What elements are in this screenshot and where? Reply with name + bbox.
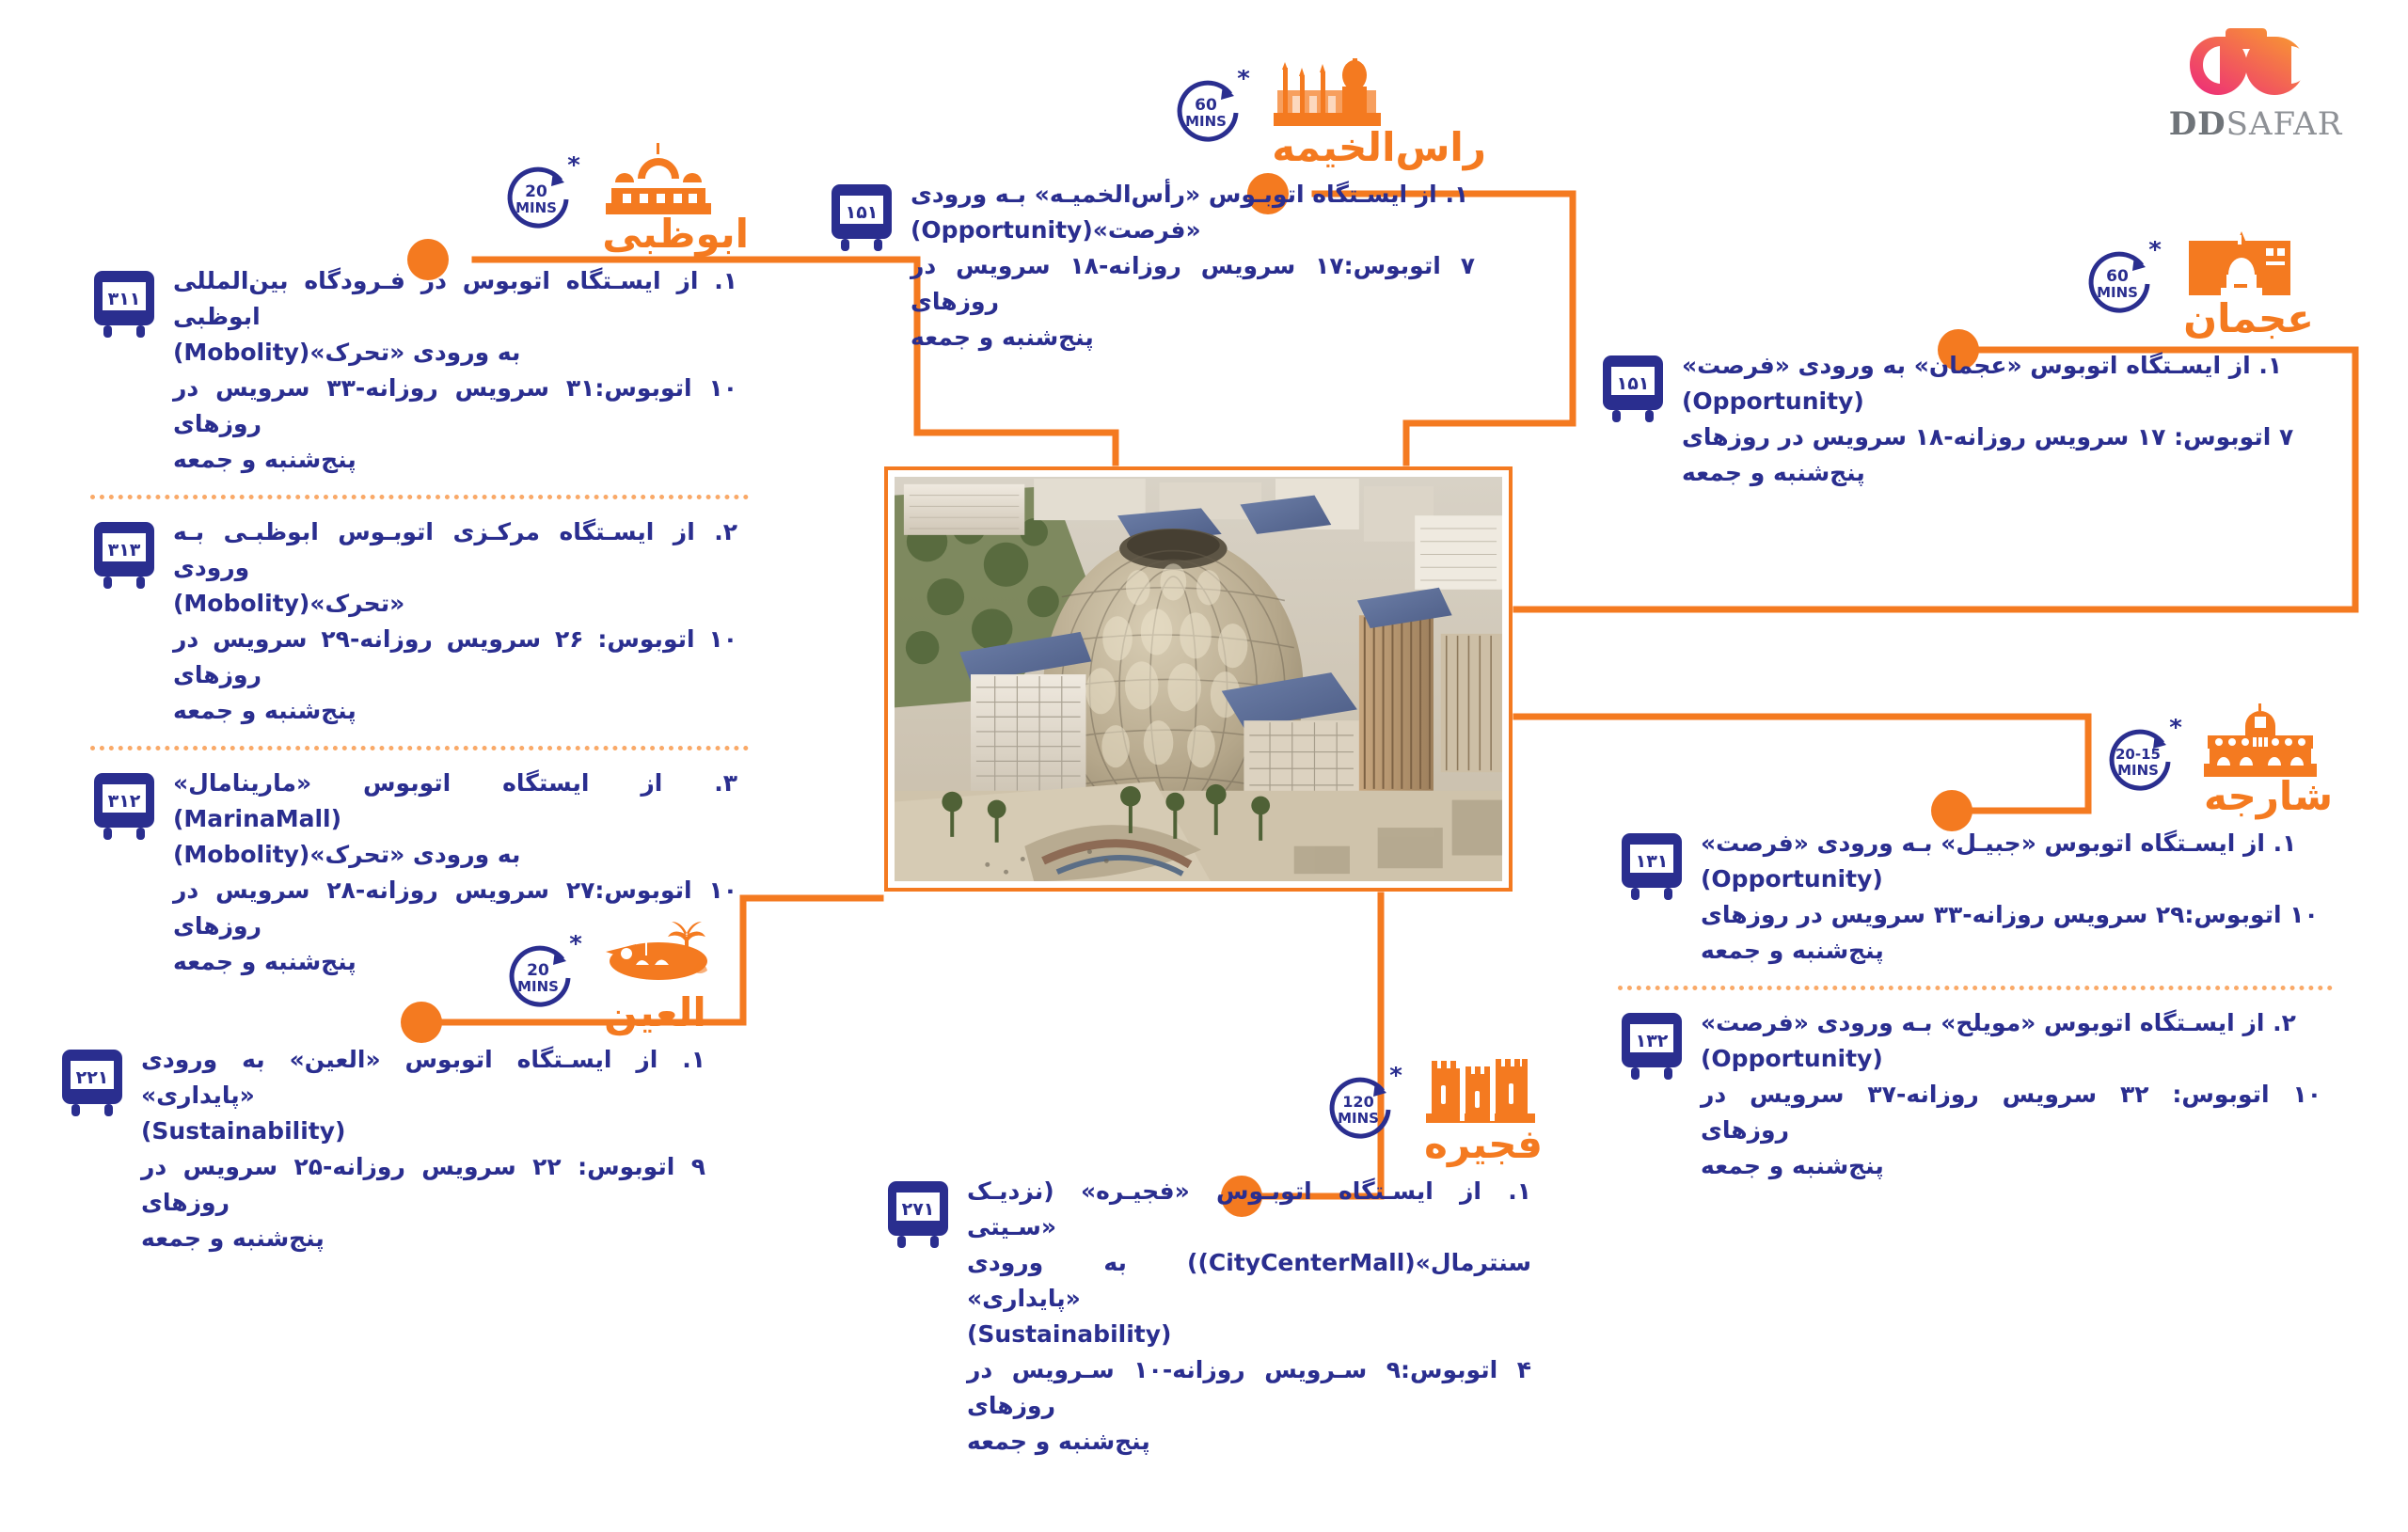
entry-text: ۲. از ایسـتگاه مرکـزی اتوبـوس ابوظبـی بـ… [173, 514, 737, 729]
bus-number-badge: ۳۱۳ [90, 520, 158, 592]
binoculars-logo-icon [2190, 23, 2321, 96]
entries-abudhabi: ۳۱۱ ۱. از ایسـتگاه اتوبوس در فـرودگاه بی… [90, 263, 749, 980]
rak-landmark-icon [1272, 55, 1385, 128]
entry-line-4: پنج‌شنبه و جمعه [1701, 1148, 2321, 1184]
svg-text:۱۵۱: ۱۵۱ [846, 202, 879, 223]
entry-line-4: پنج‌شنبه و جمعه [141, 1221, 705, 1256]
entry-text: ۲. از ایسـتگاه اتوبوس «مویلح» بـه ورودی … [1701, 1005, 2321, 1184]
travel-time-badge-sharjah: 20-15 MINS * [2097, 719, 2183, 805]
entry-text: ۱. از ایسـتگاه اتوبوس «جبیـل» بـه ورودی … [1701, 826, 2321, 969]
bus-number-badge: ۱۳۱ [1618, 831, 1686, 903]
region-rak: راس‌الخیمه 60 MINS * ۱۵۱ [828, 55, 1486, 355]
bus-number-badge: ۳۱۱ [90, 269, 158, 340]
entry-line-3: ۹ اتوبوس: ۲۲ سرویس روزانه-۲۵ سرویس در رو… [141, 1149, 705, 1221]
svg-text:۱۳۲: ۱۳۲ [1636, 1031, 1669, 1051]
svg-text:۲۲۱: ۲۲۱ [76, 1067, 109, 1088]
bus-number-badge: ۲۲۱ [58, 1048, 126, 1119]
city-name-fujairah: فجیره [1424, 1125, 1543, 1168]
region-header-ajman: عجمان 60 MINS * [1599, 226, 2314, 342]
entry-divider [90, 746, 749, 750]
entry-text: ۱. از ایسـتگاه اتوبوس «عجمان» به ورودی «… [1682, 348, 2303, 491]
entry-line-1: ۱. از ایسـتگاه اتوبوس «العین» به ورودی «… [141, 1042, 705, 1113]
ajman-landmark-icon [2183, 226, 2296, 299]
region-ajman: عجمان 60 MINS * ۱۵۱ [1599, 226, 2314, 491]
entry-row: ۲۷۱ ۱. از ایسـتگاه اتوبـوس «فجیـره» (نزد… [884, 1174, 1543, 1460]
asterisk-icon: * [1237, 70, 1250, 93]
entry-divider [1618, 986, 2333, 990]
entries-alain: ۲۲۱ ۱. از ایسـتگاه اتوبوس «العین» به ورو… [58, 1042, 717, 1256]
entry-row: ۳۱۳ ۲. از ایسـتگاه مرکـزی اتوبـوس ابوظبـ… [90, 514, 749, 729]
travel-time-badge-alain: 20 MINS * [497, 935, 583, 1021]
entry-line-3-latin: (Sustainability) [967, 1317, 1531, 1352]
svg-text:۱۵۱: ۱۵۱ [1617, 373, 1650, 394]
brand-wordmark: DDSAFAR [2143, 105, 2368, 143]
asterisk-icon: * [567, 156, 580, 180]
svg-text:۱۳۱: ۱۳۱ [1636, 851, 1669, 872]
entry-line-2: سنترمال»(CityCenterMall)) به ورودی «پاید… [967, 1245, 1531, 1317]
brand-word-light: SAFAR [2226, 105, 2343, 143]
entry-line-3: ۷ اتوبوس:۱۷ سرویس روزانه-۱۸ سرویس در روز… [911, 248, 1475, 320]
entry-line-1: ۲. از ایسـتگاه اتوبوس «مویلح» بـه ورودی … [1701, 1005, 2321, 1041]
travel-time-badge-rak: 60 MINS * [1164, 70, 1251, 156]
entry-line-2: «فرصت»(Opportunity) [911, 213, 1475, 248]
entry-line-3: ۱۰ اتوبوس:۲۹ سرویس روزانه-۳۳ سرویس در رو… [1701, 897, 2321, 933]
brand-word-bold: DD [2169, 105, 2226, 143]
alain-oasis-icon [604, 920, 717, 993]
region-header-fujairah: فجیره 120 MINS * [884, 1051, 1543, 1168]
entry-text: ۱. از ایسـتگاه اتوبوس در فـرودگاه بین‌ال… [173, 263, 737, 478]
entry-line-1: ۱. از ایسـتگاه اتوبـوس «فجیـره» (نزدیـک … [967, 1174, 1531, 1245]
entry-line-2: (Opportunity) [1701, 1041, 2321, 1077]
region-header-abudhabi: ابوظبی 20 MINS * [90, 141, 749, 258]
entry-row: ۳۱۱ ۱. از ایسـتگاه اتوبوس در فـرودگاه بی… [90, 263, 749, 478]
region-header-alain: العین 20 MINS * [58, 920, 717, 1036]
region-header-rak: راس‌الخیمه 60 MINS * [828, 55, 1486, 171]
city-name-sharjah: شارجه [2204, 777, 2333, 820]
entry-text: ۱. از ایسـتگاه اتوبوس «العین» به ورودی «… [141, 1042, 705, 1256]
entry-line-2: به ورودی «تحرک»(Mobolity) [173, 837, 737, 873]
entry-line-4: پنج‌شنبه و جمعه [967, 1424, 1531, 1460]
svg-text:MINS: MINS [1185, 113, 1227, 130]
entry-line-2: (Sustainability) [141, 1113, 705, 1149]
asterisk-icon: * [1389, 1066, 1402, 1090]
entry-line-3: ۷ اتوبوس: ۱۷ سرویس روزانه-۱۸ سرویس در رو… [1682, 419, 2303, 455]
bus-number-badge: ۱۵۱ [1599, 354, 1667, 425]
entry-row: ۲۲۱ ۱. از ایسـتگاه اتوبوس «العین» به ورو… [58, 1042, 717, 1256]
bus-number-badge: ۲۷۱ [884, 1179, 952, 1251]
bus-number-badge: ۱۵۱ [828, 182, 895, 254]
city-name-ajman: عجمان [2183, 299, 2314, 342]
svg-text:MINS: MINS [2097, 284, 2138, 301]
entry-divider [90, 495, 749, 499]
svg-text:۳۱۱: ۳۱۱ [108, 289, 141, 309]
city-name-abudhabi: ابوظبی [602, 214, 749, 258]
fujairah-fort-icon [1424, 1051, 1537, 1125]
entry-line-4: پنج‌شنبه و جمعه [1682, 455, 2303, 491]
abudhabi-landmark-icon [602, 141, 715, 214]
svg-text:۳۱۳: ۳۱۳ [108, 540, 141, 561]
city-name-alain: العین [604, 993, 706, 1036]
svg-text:۲۷۱: ۲۷۱ [902, 1199, 935, 1220]
infographic-canvas: DDSAFAR [0, 0, 2408, 1532]
sharjah-landmark-icon [2204, 703, 2317, 777]
time-unit: MINS [515, 199, 557, 216]
entry-line-1: ۱. از ایسـتگاه اتوبوس «عجمان» به ورودی «… [1682, 348, 2303, 384]
svg-text:60: 60 [2106, 267, 2129, 286]
entries-sharjah: ۱۳۱ ۱. از ایسـتگاه اتوبوس «جبیـل» بـه ور… [1618, 826, 2333, 1184]
svg-text:MINS: MINS [517, 978, 559, 995]
entry-row: ۱۳۲ ۲. از ایسـتگاه اتوبوس «مویلح» بـه ور… [1618, 1005, 2333, 1184]
svg-text:MINS: MINS [2117, 762, 2159, 779]
travel-time-badge-fujairah: 120 MINS * [1317, 1066, 1403, 1153]
bus-number-badge: ۳۱۲ [90, 771, 158, 843]
asterisk-icon: * [569, 935, 582, 958]
entry-row: ۱۵۱ ۱. از ایسـتگاه اتوبوس «عجمان» به ورو… [1599, 348, 2314, 491]
entry-line-1: ۱. از ایسـتگاه اتوبـوس «رأس‌الخمیـه» بـه… [911, 177, 1475, 213]
entry-text: ۱. از ایسـتگاه اتوبـوس «رأس‌الخمیـه» بـه… [911, 177, 1475, 355]
asterisk-icon: * [2148, 241, 2162, 264]
entry-line-3: ۱۰ اتوبوس:۳۱ سرویس روزانه-۳۳ سرویس در رو… [173, 371, 737, 442]
svg-text:20-15: 20-15 [2115, 746, 2161, 763]
entry-row: ۱۳۱ ۱. از ایسـتگاه اتوبوس «جبیـل» بـه ور… [1618, 826, 2333, 969]
entry-line-3: ۱۰ اتوبوس: ۳۲ سرویس روزانه-۳۷ سرویس در ر… [1701, 1077, 2321, 1148]
travel-time-badge-abudhabi: 20 MINS * [495, 156, 581, 243]
asterisk-icon: * [2169, 719, 2182, 742]
entry-line-2: (Opportunity) [1682, 384, 2303, 419]
entry-line-3: ۱۰ اتوبوس: ۲۶ سرویس روزانه-۲۹ سرویس در ر… [173, 622, 737, 693]
entries-ajman: ۱۵۱ ۱. از ایسـتگاه اتوبوس «عجمان» به ورو… [1599, 348, 2314, 491]
region-abudhabi: ابوظبی 20 MINS * ۳۱۱ [90, 141, 749, 980]
entry-line-1: ۱. از ایسـتگاه اتوبوس «جبیـل» بـه ورودی … [1701, 826, 2321, 861]
al-wasl-dome-photo [884, 466, 1513, 892]
entry-line-4: پنج‌شنبه و جمعه [911, 320, 1475, 355]
entry-line-3: ۴ اتوبوس:۹ سـرویس روزانه-۱۰ سـرویس در رو… [967, 1352, 1531, 1424]
entry-line-2: به ورودی «تحرک»(Mobolity) [173, 335, 737, 371]
region-alain: العین 20 MINS * ۲۲۱ [58, 920, 717, 1256]
region-header-sharjah: شارجه 20-15 MINS * [1618, 703, 2333, 820]
entry-line-4: پنج‌شنبه و جمعه [173, 442, 737, 478]
entry-text: ۱. از ایسـتگاه اتوبـوس «فجیـره» (نزدیـک … [967, 1174, 1531, 1460]
entry-line-2: «تحرک»(Mobolity) [173, 586, 737, 622]
svg-text:۳۱۲: ۳۱۲ [108, 791, 141, 812]
entry-line-1: ۲. از ایسـتگاه مرکـزی اتوبـوس ابوظبـی بـ… [173, 514, 737, 586]
region-sharjah: شارجه 20-15 MINS * ۱۳۱ [1618, 703, 2333, 1184]
entry-line-1: ۳. از ایستگاه اتوبوس «مارینامال» (Marina… [173, 766, 737, 837]
svg-text:60: 60 [1195, 96, 1217, 115]
region-fujairah: فجیره 120 MINS * ۲۷۱ [884, 1051, 1543, 1460]
svg-text:MINS: MINS [1338, 1110, 1379, 1127]
entries-rak: ۱۵۱ ۱. از ایسـتگاه اتوبـوس «رأس‌الخمیـه»… [828, 177, 1486, 355]
entries-fujairah: ۲۷۱ ۱. از ایسـتگاه اتوبـوس «فجیـره» (نزد… [884, 1174, 1543, 1460]
entry-row: ۱۵۱ ۱. از ایسـتگاه اتوبـوس «رأس‌الخمیـه»… [828, 177, 1486, 355]
svg-text:120: 120 [1342, 1093, 1373, 1111]
travel-time-badge-ajman: 60 MINS * [2076, 241, 2162, 327]
dome-illustration [895, 477, 1502, 881]
brand-logo: DDSAFAR [2143, 23, 2368, 143]
bus-number-badge: ۱۳۲ [1618, 1011, 1686, 1082]
entry-line-2: (Opportunity) [1701, 861, 2321, 897]
svg-text:20: 20 [527, 961, 549, 980]
entry-line-4: پنج‌شنبه و جمعه [1701, 933, 2321, 969]
entry-line-4: پنج‌شنبه و جمعه [173, 693, 737, 729]
time-value: 20 [525, 182, 547, 201]
entry-line-1: ۱. از ایسـتگاه اتوبوس در فـرودگاه بین‌ال… [173, 263, 737, 335]
city-name-rak: راس‌الخیمه [1272, 128, 1486, 171]
